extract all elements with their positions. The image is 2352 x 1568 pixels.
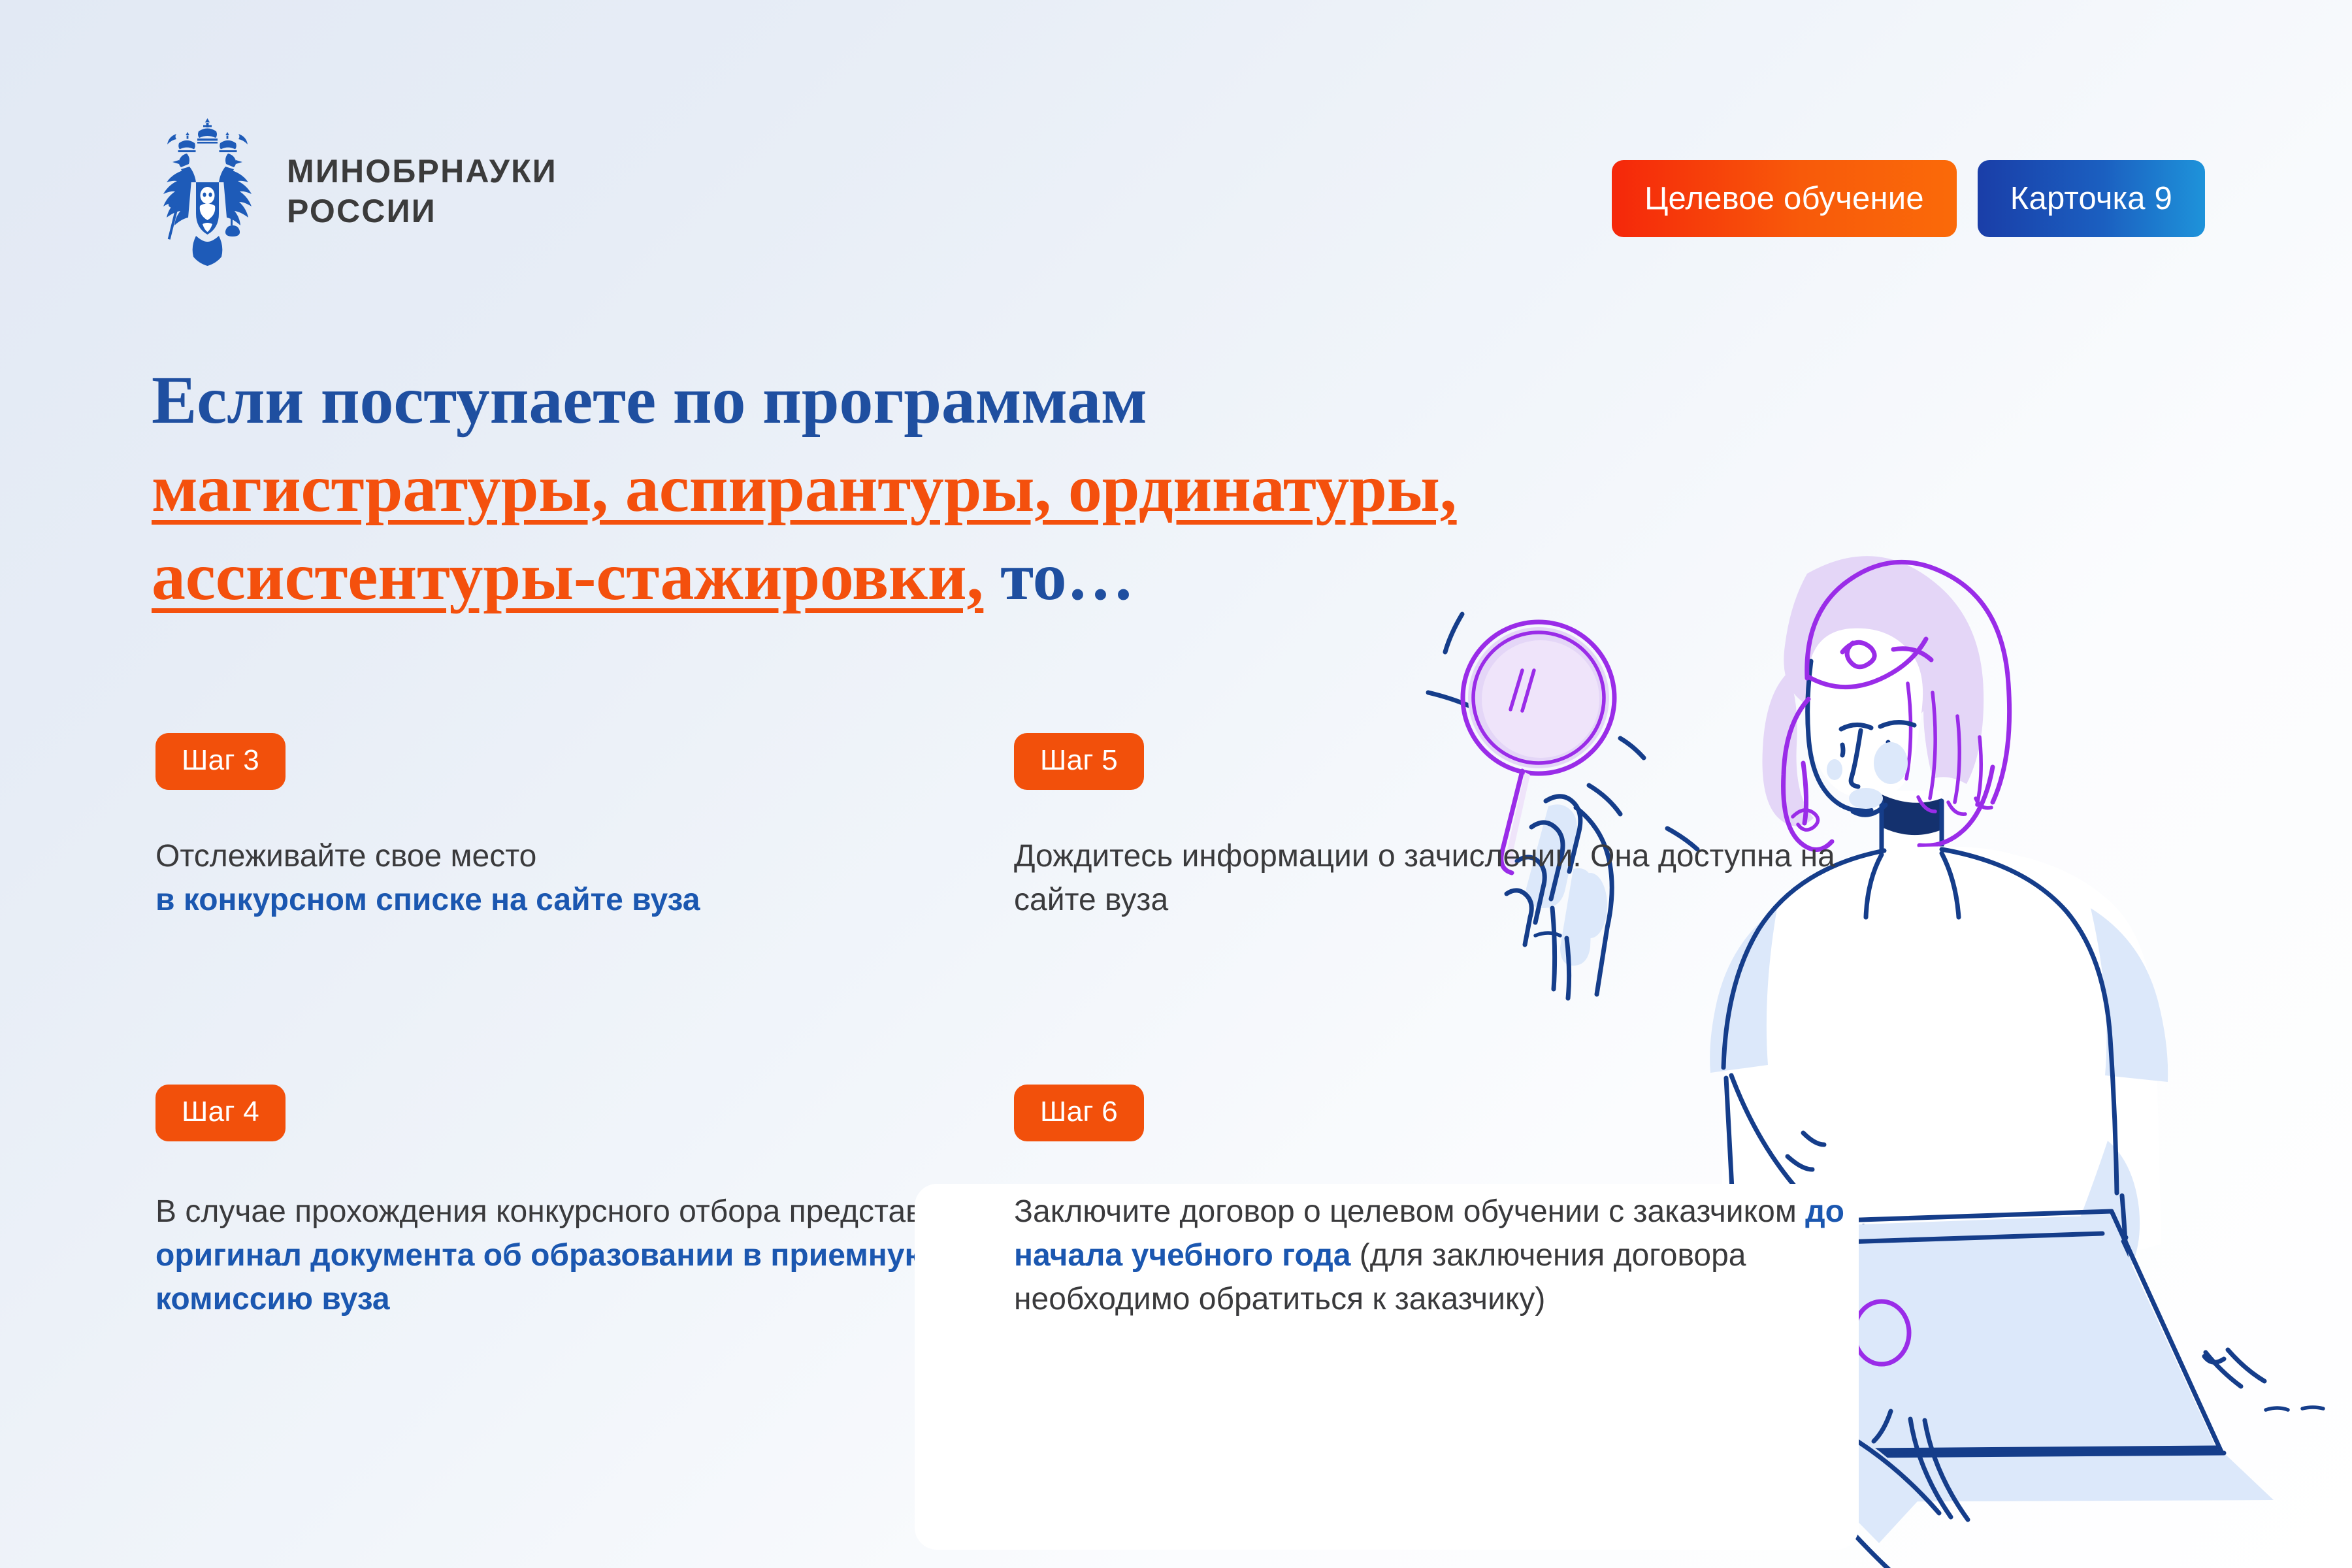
step-badge-4: Шаг 4 [155, 1085, 286, 1141]
page-title-part-4: то… [983, 539, 1134, 614]
step-text-3-plain: Отслеживайте свое место [155, 839, 536, 874]
badge-card-number: Карточка 9 [1978, 160, 2205, 237]
page-title-part-3: ассистентуры-стажировки, [152, 539, 983, 614]
step-badge-3: Шаг 3 [155, 733, 286, 790]
badge-program-topic: Целевое обучение [1612, 160, 1957, 237]
ministry-name: МИНОБРНАУКИ РОССИИ [287, 152, 557, 231]
ministry-logo: МИНОБРНАУКИ РОССИИ [150, 114, 557, 268]
step-badge-6: Шаг 6 [1014, 1085, 1144, 1141]
step-text-5: Дождитесь информации о зачислении. Она д… [1014, 834, 1876, 922]
header: МИНОБРНАУКИ РОССИИ Целевое обучение Карт… [0, 0, 2352, 274]
step-text-3: Отслеживайте свое место в конкурсном спи… [155, 834, 979, 922]
page-title-part-2: магистратуры, аспирантуры, ординатуры, [152, 451, 1457, 526]
step-card-4: Шаг 4 В случае прохождения конкурсного о… [155, 1085, 979, 1322]
step-card-6: Шаг 6 Заключите договор о целевом обучен… [1014, 1085, 1876, 1322]
step-text-4-plain: В случае прохождения конкурсного отбора … [155, 1194, 968, 1229]
step-card-5: Шаг 5 Дождитесь информации о зачислении.… [1014, 733, 1876, 922]
step-card-3: Шаг 3 Отслеживайте свое место в конкурсн… [155, 733, 979, 922]
step-text-4-bold: оригинал документа об образовании в прие… [155, 1238, 931, 1316]
step-text-3-bold: в конкурсном списке на сайте вуза [155, 883, 700, 917]
step-text-6-plain-1: Заключите договор о целевом обучении с з… [1014, 1194, 1805, 1229]
russian-coat-of-arms-double-headed-eagle-icon [150, 114, 265, 268]
ministry-name-line2: РОССИИ [287, 191, 557, 231]
ministry-name-line1: МИНОБРНАУКИ [287, 152, 557, 191]
step-text-6: Заключите договор о целевом обучении с з… [1014, 1190, 1876, 1322]
step-badge-5: Шаг 5 [1014, 733, 1144, 790]
header-badges: Целевое обучение Карточка 9 [1612, 160, 2205, 237]
page-title-part-1: Если поступаете по программам [152, 363, 1147, 438]
step-text-5-plain: Дождитесь информации о зачислении. Она д… [1014, 839, 1835, 917]
step-text-4: В случае прохождения конкурсного отбора … [155, 1190, 979, 1322]
